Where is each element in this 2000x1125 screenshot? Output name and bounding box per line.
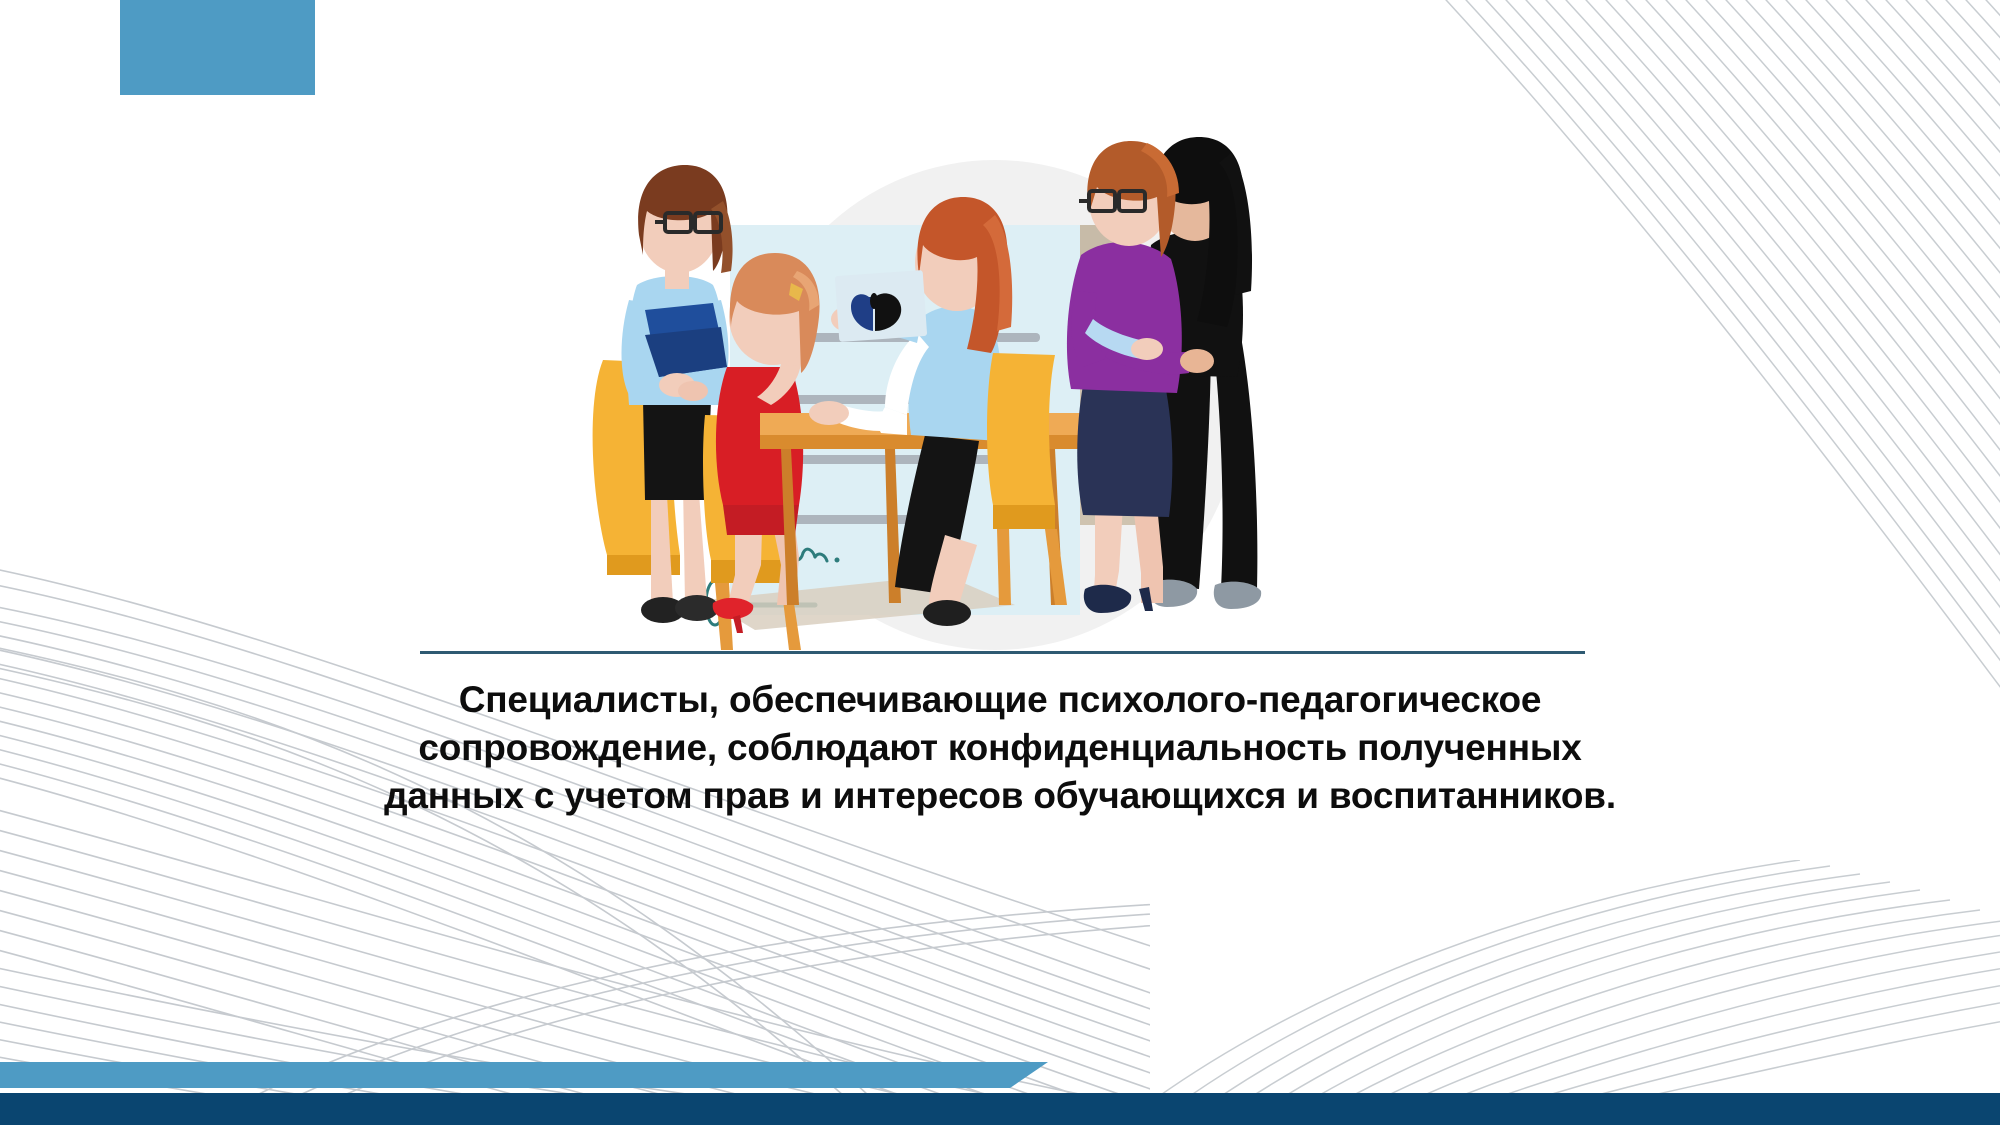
section-divider <box>420 651 1585 654</box>
figure-hugging-pair <box>1067 137 1261 613</box>
caption-line-2: сопровождение, соблюдают конфиденциально… <box>300 724 1700 772</box>
caption-line-3: данных с учетом прав и интересов обучающ… <box>300 772 1700 820</box>
accent-block-top-left <box>120 0 315 95</box>
inkblot-card <box>835 270 927 342</box>
caption-text: Специалисты, обеспечивающие психолого-пе… <box>300 676 1700 820</box>
counseling-illustration: Плоская иллюстрация: психолого-педагогич… <box>585 105 1415 650</box>
bottom-accent-stripe <box>0 1062 1048 1088</box>
blue-folder <box>645 303 727 377</box>
caption-line-1: Специалисты, обеспечивающие психолого-пе… <box>300 676 1700 724</box>
presentation-slide: Плоская иллюстрация: психолого-педагогич… <box>0 0 2000 1125</box>
shoe-black-right <box>923 600 971 626</box>
bottom-footer-bar <box>0 1093 2000 1125</box>
